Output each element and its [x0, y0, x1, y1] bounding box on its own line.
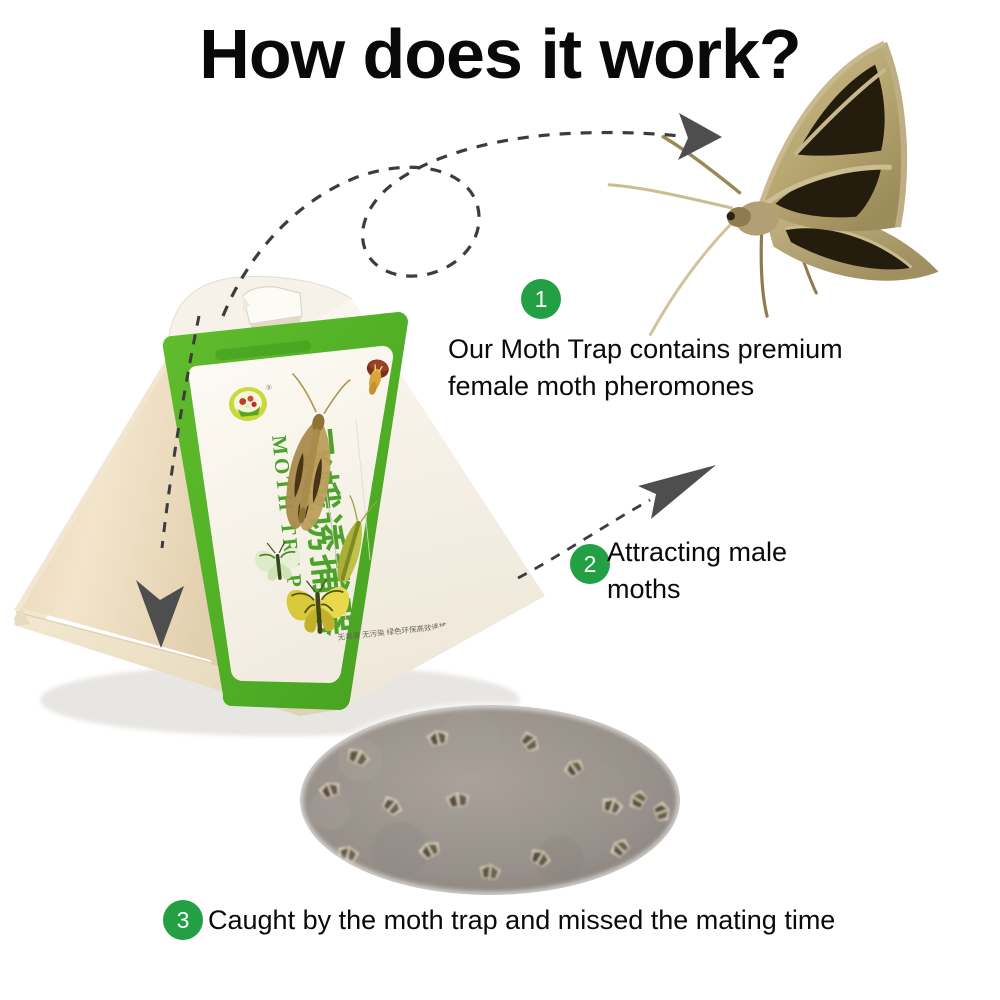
infographic-page: ® 飞蛾诱捕器 MOTH TRAP 无毒害 无污染 绿色环保高效诱捕	[0, 0, 1000, 1000]
text-layer: How does it work? 1 Our Moth Trap contai…	[0, 0, 1000, 1000]
step-1-badge: 1	[521, 279, 561, 319]
step-3-badge: 3	[163, 900, 203, 940]
step-3-text: Caught by the moth trap and missed the m…	[208, 903, 868, 937]
page-title: How does it work?	[0, 14, 1000, 94]
step-2-text: Attracting male moths	[607, 534, 867, 608]
step-2-badge: 2	[570, 544, 610, 584]
step-1-text: Our Moth Trap contains premium female mo…	[448, 331, 878, 405]
